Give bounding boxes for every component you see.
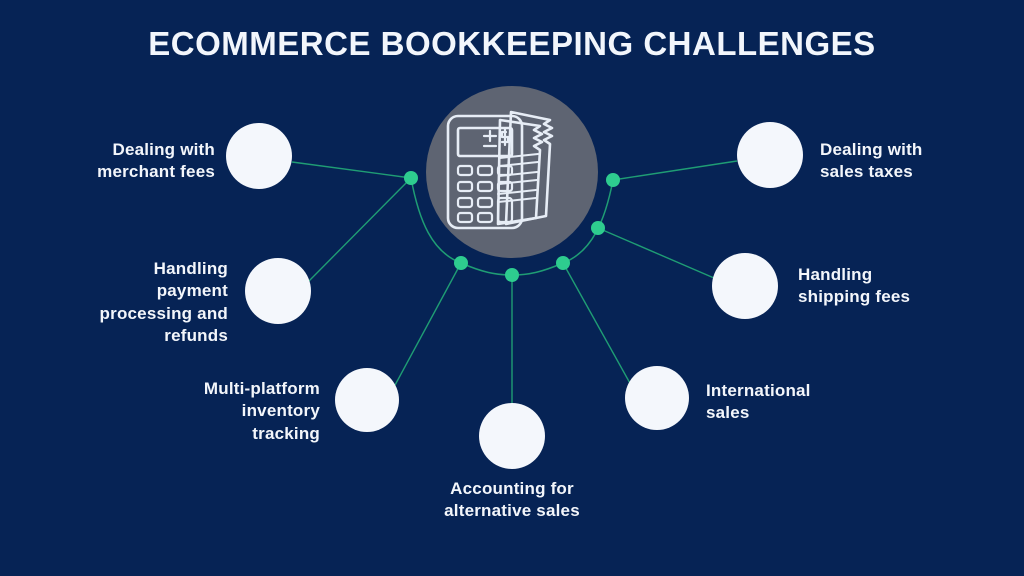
- dot-international-sales[interactable]: [556, 256, 570, 270]
- node-circle-payment-processing[interactable]: [245, 258, 311, 324]
- node-circle-inventory-tracking[interactable]: [335, 368, 399, 432]
- node-circle-sales-taxes[interactable]: [737, 122, 803, 188]
- node-circle-shipping-fees[interactable]: [712, 253, 778, 319]
- node-label-merchant-fees: Dealing with merchant fees: [30, 139, 215, 184]
- node-label-inventory-tracking: Multi-platform inventory tracking: [130, 378, 320, 445]
- dot-inventory-tracking[interactable]: [454, 256, 468, 270]
- node-label-sales-taxes: Dealing with sales taxes: [820, 139, 1020, 184]
- node-label-shipping-fees: Handling shipping fees: [798, 264, 998, 309]
- node-label-payment-processing: Handling payment processing and refunds: [30, 258, 228, 348]
- line-shipping-fees: [598, 228, 714, 278]
- infographic-canvas: ECOMMERCE BOOKKEEPING CHALLENGES: [0, 0, 1024, 576]
- dot-merchant-fees[interactable]: [404, 171, 418, 185]
- line-inventory-tracking: [394, 263, 461, 387]
- node-label-international-sales: International sales: [706, 380, 906, 425]
- dot-shipping-fees[interactable]: [591, 221, 605, 235]
- node-label-alternative-sales: Accounting for alternative sales: [392, 478, 632, 523]
- dot-alternative-sales[interactable]: [505, 268, 519, 282]
- node-circle-international-sales[interactable]: [625, 366, 689, 430]
- node-circle-alternative-sales[interactable]: [479, 403, 545, 469]
- line-merchant-fees: [292, 162, 411, 178]
- node-circle-merchant-fees[interactable]: [226, 123, 292, 189]
- hub-circle: [426, 86, 598, 258]
- dot-sales-taxes[interactable]: [606, 173, 620, 187]
- line-payment-processing: [307, 178, 411, 283]
- line-sales-taxes: [613, 161, 737, 180]
- line-international-sales: [563, 263, 631, 385]
